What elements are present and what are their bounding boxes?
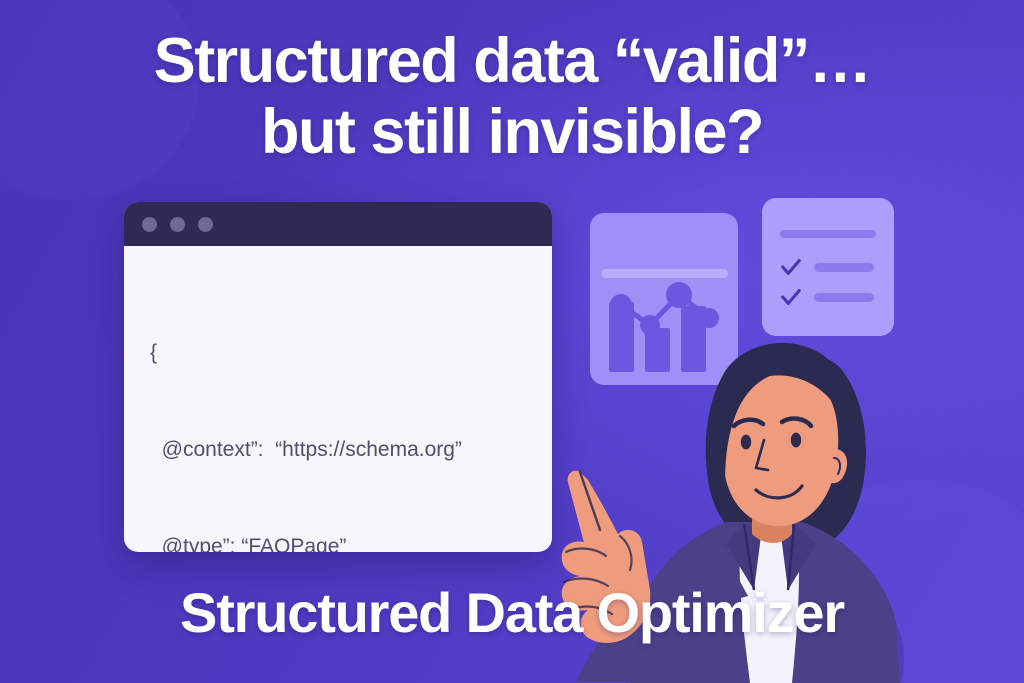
code-line: @type”: “FAQPage” [150,531,530,552]
headline-line-1: Structured data “valid”… [0,26,1024,97]
headline: Structured data “valid”… but still invis… [0,26,1024,167]
checklist-header-line [780,230,876,238]
promo-graphic: Structured data “valid”… but still invis… [0,0,1024,683]
window-title-bar [124,202,552,246]
code-line: { [150,337,530,369]
headline-line-2: but still invisible? [0,97,1024,168]
code-block: { @context”: “https://schema.org” @type”… [124,246,552,552]
window-close-dot-icon[interactable] [142,217,157,232]
window-maximize-dot-icon[interactable] [198,217,213,232]
product-title: Structured Data Optimizer [0,580,1024,645]
code-line: @context”: “https://schema.org” [150,434,530,466]
checklist-item-line-1 [814,263,874,272]
code-window: { @context”: “https://schema.org” @type”… [124,202,552,552]
window-minimize-dot-icon[interactable] [170,217,185,232]
check-icon [780,256,802,278]
